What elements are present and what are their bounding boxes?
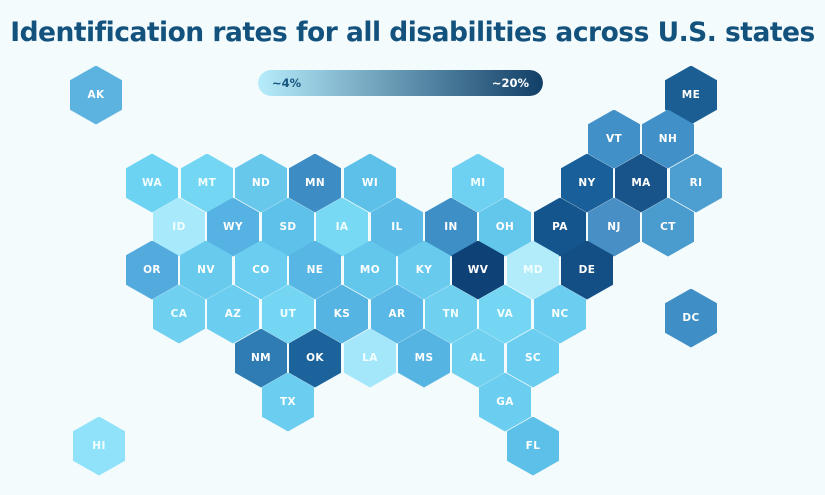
hex-state-label: AR: [388, 308, 405, 320]
hex-state-label: IA: [336, 221, 349, 233]
hex-state-label: NJ: [607, 221, 621, 233]
hex-state-label: NH: [659, 133, 677, 145]
hex-state-label: LA: [362, 352, 378, 364]
hex-state-label: WV: [468, 264, 489, 276]
hex-state-label: TN: [443, 308, 460, 320]
hex-state-label: MO: [360, 264, 380, 276]
hex-state-label: MI: [470, 177, 485, 189]
hex-state-label: SD: [279, 221, 296, 233]
hex-state-label: AK: [87, 89, 104, 101]
us-states-hex-tilegram: AKMEVTNHWAMTNDMNWIMINYMARIIDWYSDIAILINOH…: [0, 0, 825, 495]
hex-state-label: UT: [280, 308, 297, 320]
hex-state-label: WI: [362, 177, 378, 189]
hex-state-label: ID: [172, 221, 185, 233]
hex-state-label: HI: [92, 440, 106, 452]
hex-state-label: WA: [142, 177, 162, 189]
hex-state-label: NE: [307, 264, 324, 276]
hex-state-label: OR: [143, 264, 161, 276]
hex-state-label: PA: [552, 221, 568, 233]
infographic-canvas: Identification rates for all disabilitie…: [0, 0, 825, 495]
hex-state-label: WY: [223, 221, 243, 233]
hex-state-dc[interactable]: DC: [665, 289, 717, 348]
hex-state-label: VT: [606, 133, 622, 145]
hex-state-label: NV: [197, 264, 215, 276]
hex-state-label: AZ: [225, 308, 242, 320]
hex-state-label: NM: [251, 352, 271, 364]
hex-state-label: KY: [416, 264, 433, 276]
hex-state-label: ND: [252, 177, 270, 189]
hex-state-label: KS: [334, 308, 351, 320]
hex-state-label: VA: [497, 308, 513, 320]
hex-state-hi[interactable]: HI: [73, 417, 125, 476]
hex-state-label: MT: [198, 177, 216, 189]
hex-state-ak[interactable]: AK: [70, 66, 122, 125]
hex-state-label: OH: [496, 221, 515, 233]
hex-state-label: CA: [171, 308, 188, 320]
hex-state-label: MD: [523, 264, 543, 276]
hex-state-label: RI: [690, 177, 703, 189]
hex-state-label: TX: [280, 396, 296, 408]
hex-state-label: ME: [682, 89, 700, 101]
hex-state-label: NY: [578, 177, 595, 189]
hex-state-label: DC: [682, 312, 699, 324]
hex-state-label: NC: [551, 308, 568, 320]
hex-state-label: GA: [496, 396, 514, 408]
hex-state-label: SC: [525, 352, 541, 364]
hex-state-label: CO: [252, 264, 269, 276]
hex-state-label: DE: [579, 264, 596, 276]
hex-state-label: IL: [391, 221, 402, 233]
hex-state-label: AL: [470, 352, 486, 364]
hex-state-label: FL: [526, 440, 541, 452]
hex-state-label: MS: [415, 352, 434, 364]
hex-state-label: MA: [631, 177, 650, 189]
hex-state-label: CT: [660, 221, 676, 233]
hex-state-label: MN: [305, 177, 325, 189]
hex-state-label: IN: [444, 221, 458, 233]
hex-state-label: OK: [306, 352, 324, 364]
